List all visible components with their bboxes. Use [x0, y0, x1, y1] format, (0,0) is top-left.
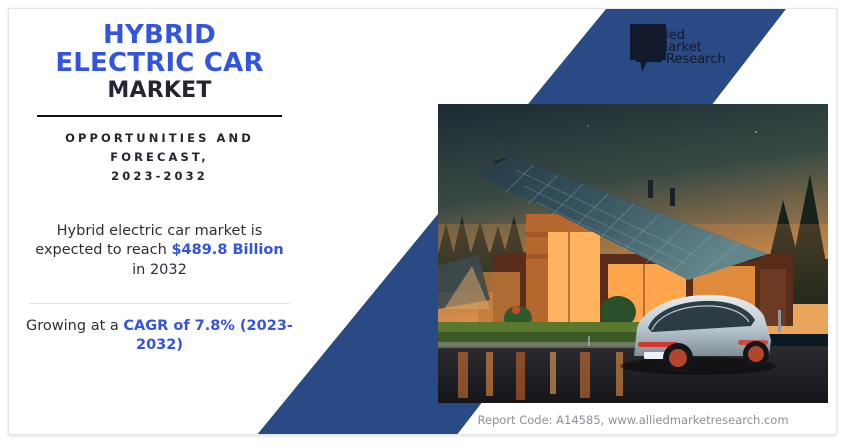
left-text-column: HYBRID ELECTRIC CAR MARKET OPPORTUNITIES…	[22, 21, 297, 356]
market-value-highlight: $489.8 Billion	[171, 242, 283, 258]
subtitle-line-2: FORECAST,	[22, 148, 297, 167]
title-line-1: HYBRID	[22, 21, 297, 49]
hero-photo	[438, 104, 828, 403]
stats-divider	[29, 303, 290, 304]
title-line-3: MARKET	[22, 79, 297, 103]
market-value-suffix: in 2032	[132, 262, 187, 278]
infographic-card: HYBRID ELECTRIC CAR MARKET OPPORTUNITIES…	[8, 8, 837, 435]
footer-report-code: Report Code: A14585, www.alliedmarketres…	[438, 413, 828, 427]
subtitle: OPPORTUNITIES AND FORECAST, 2023-2032	[22, 129, 297, 186]
subtitle-line-3: 2023-2032	[22, 167, 297, 186]
cagr-prefix: Growing at a	[26, 318, 123, 334]
subtitle-line-1: OPPORTUNITIES AND	[22, 129, 297, 148]
market-value-statement: Hybrid electric car market is expected t…	[22, 222, 297, 281]
title-line-2: ELECTRIC CAR	[22, 49, 297, 77]
allied-market-research-logo: Allied Market Research	[626, 22, 730, 74]
cagr-statement: Growing at a CAGR of 7.8% (2023-2032)	[22, 317, 297, 356]
page-title: HYBRID ELECTRIC CAR MARKET	[22, 21, 297, 103]
cagr-highlight: CAGR of 7.8% (2023-2032)	[123, 318, 293, 354]
logo-line-3: Research	[666, 52, 726, 67]
title-divider	[37, 115, 282, 117]
